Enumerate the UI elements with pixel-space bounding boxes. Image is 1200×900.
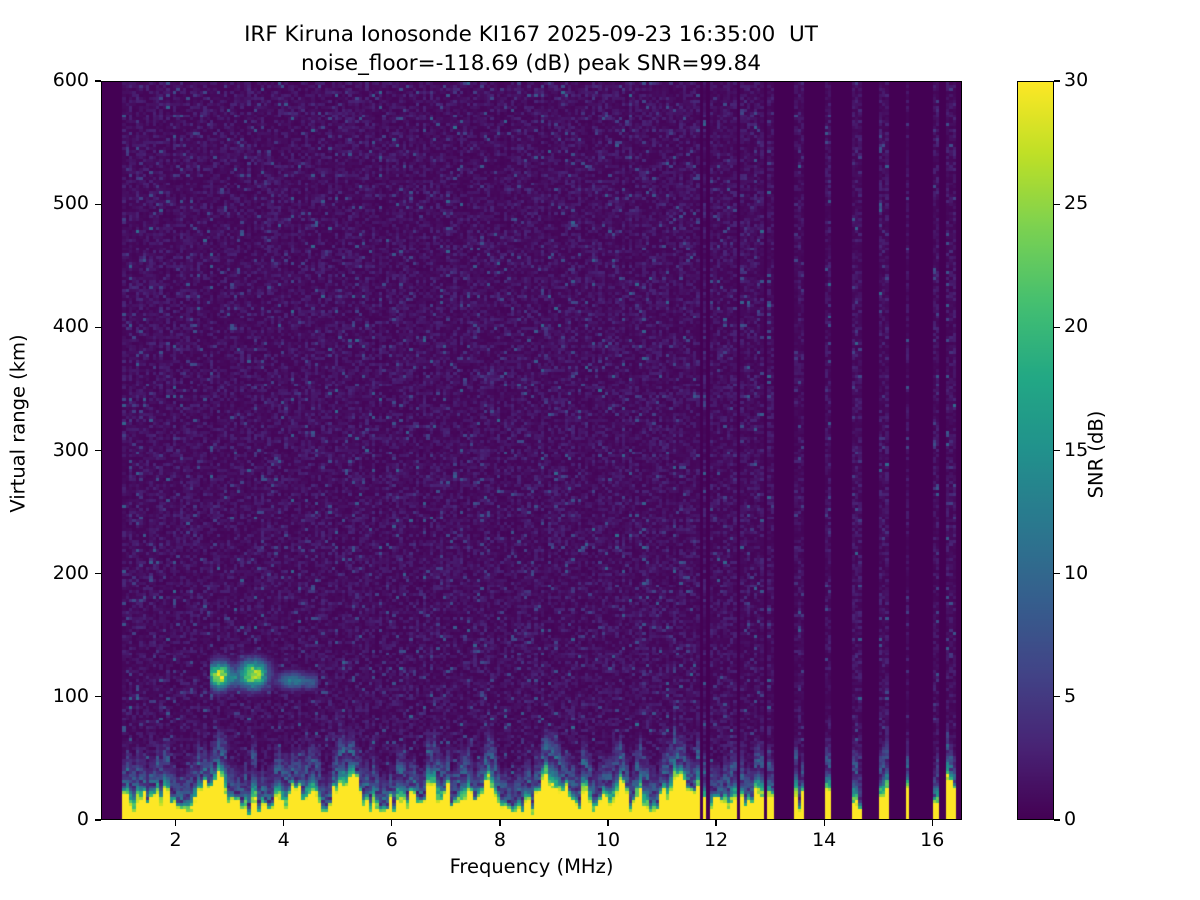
ionogram-figure: IRF Kiruna Ionosonde KI167 2025-09-23 16… — [0, 0, 1200, 900]
x-tick-mark — [175, 820, 176, 826]
y-tick-mark — [95, 204, 101, 205]
colorbar-tick-label: 30 — [1064, 69, 1088, 91]
y-tick-label: 100 — [53, 685, 89, 707]
x-tick-label: 10 — [578, 829, 638, 851]
colorbar-tick-label: 25 — [1064, 192, 1088, 214]
colorbar-tick-mark — [1054, 450, 1060, 451]
colorbar-gradient — [1018, 82, 1053, 819]
colorbar-tick-mark — [1054, 696, 1060, 697]
x-tick-mark — [715, 820, 716, 826]
x-tick-mark — [283, 820, 284, 826]
x-tick-label: 8 — [470, 829, 530, 851]
colorbar-tick-label: 20 — [1064, 315, 1088, 337]
colorbar-tick-mark — [1054, 204, 1060, 205]
colorbar-tick-mark — [1054, 819, 1060, 820]
title-main-line: IRF Kiruna Ionosonde KI167 2025-09-23 16… — [0, 20, 1062, 49]
y-tick-label: 500 — [53, 192, 89, 214]
y-tick-label: 300 — [53, 439, 89, 461]
y-tick-label: 600 — [53, 69, 89, 91]
colorbar-tick-label: 5 — [1064, 685, 1076, 707]
y-tick-mark — [95, 327, 101, 328]
x-axis-label: Frequency (MHz) — [101, 855, 962, 878]
colorbar-tick-mark — [1054, 80, 1060, 81]
x-tick-mark — [607, 820, 608, 826]
y-tick-mark — [95, 573, 101, 574]
colorbar[interactable] — [1017, 81, 1054, 820]
y-tick-mark — [95, 696, 101, 697]
x-tick-label: 16 — [902, 829, 962, 851]
colorbar-tick-mark — [1054, 327, 1060, 328]
x-tick-label: 2 — [146, 829, 206, 851]
y-tick-mark — [95, 450, 101, 451]
figure-title: IRF Kiruna Ionosonde KI167 2025-09-23 16… — [0, 20, 1062, 78]
ionogram-heatmap[interactable] — [102, 82, 962, 820]
colorbar-tick-label: 10 — [1064, 562, 1088, 584]
y-tick-label: 400 — [53, 315, 89, 337]
colorbar-tick-label: 0 — [1064, 808, 1076, 830]
x-tick-mark — [932, 820, 933, 826]
x-tick-label: 12 — [686, 829, 746, 851]
colorbar-tick-label: 15 — [1064, 439, 1088, 461]
x-tick-mark — [391, 820, 392, 826]
colorbar-tick-mark — [1054, 573, 1060, 574]
y-tick-label: 200 — [53, 562, 89, 584]
y-axis-label: Virtual range (km) — [7, 164, 30, 684]
x-tick-label: 14 — [794, 829, 854, 851]
x-tick-mark — [824, 820, 825, 826]
y-tick-mark — [95, 819, 101, 820]
title-subtitle-line: noise_floor=-118.69 (dB) peak SNR=99.84 — [0, 49, 1062, 78]
heatmap-axes[interactable] — [101, 81, 962, 820]
x-tick-label: 6 — [362, 829, 422, 851]
x-tick-mark — [499, 820, 500, 826]
y-tick-mark — [95, 80, 101, 81]
x-tick-label: 4 — [254, 829, 314, 851]
y-tick-label: 0 — [77, 808, 89, 830]
